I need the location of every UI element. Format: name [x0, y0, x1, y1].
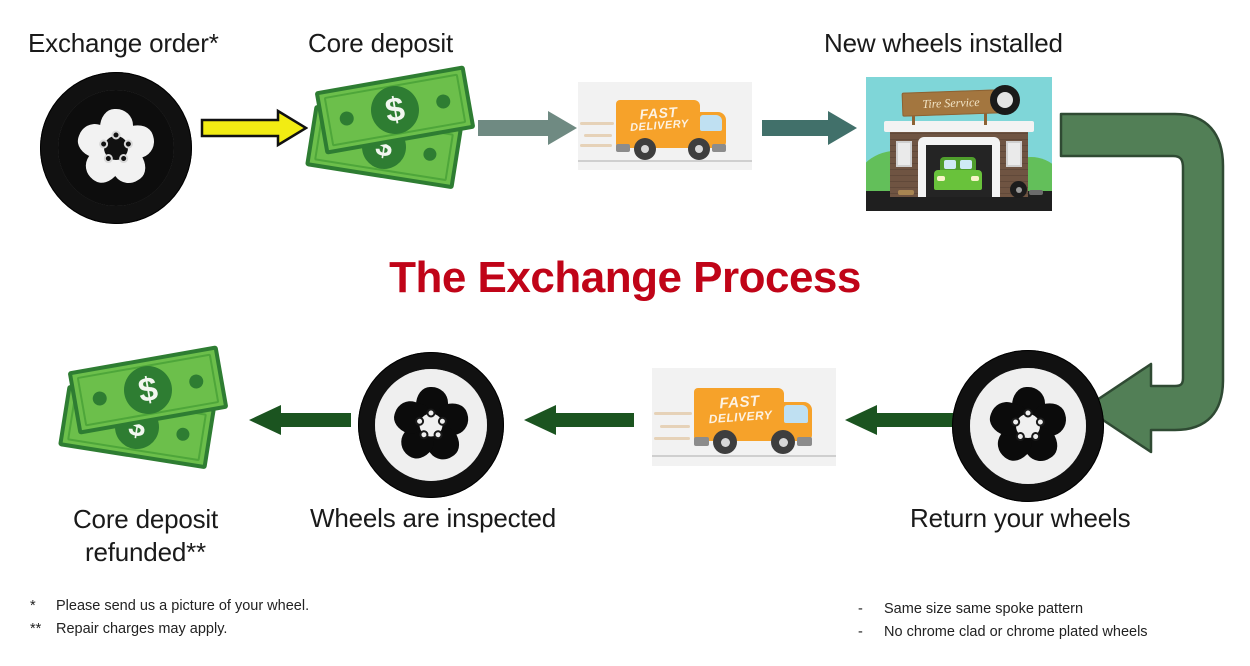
van-bumper — [712, 144, 726, 152]
car-headlight — [937, 176, 945, 181]
shop-tool — [1029, 190, 1043, 195]
dollar-bills-icon-refund: $ $ — [58, 352, 233, 487]
shop-window — [896, 141, 912, 167]
speed-line — [584, 134, 612, 137]
sign-post — [984, 113, 987, 125]
speed-line — [654, 437, 690, 440]
van-road — [578, 160, 752, 162]
requirement-bullet: - — [858, 621, 884, 644]
loose-tire — [1010, 181, 1027, 198]
car-windshield — [944, 160, 956, 169]
arrow-ship-to-inspect — [522, 404, 634, 436]
alloy-wheel-icon-return — [952, 350, 1104, 502]
car-windshield — [960, 160, 972, 169]
arrow-return-to-ship — [843, 404, 953, 436]
requirement-text: Same size same spoke pattern — [884, 598, 1083, 621]
speed-line — [660, 425, 690, 428]
arrow-order-to-deposit — [200, 108, 308, 148]
exchange-process-diagram: Exchange order* Core deposit — [0, 0, 1250, 666]
van-label: FAST DELIVERY — [623, 104, 695, 136]
van-wheel — [713, 430, 737, 454]
step-label-core-deposit-refunded: Core deposit refunded** — [38, 503, 253, 570]
shop-window — [1006, 141, 1022, 167]
shop-sign: Tire Service — [902, 89, 1001, 116]
page-title: The Exchange Process — [0, 253, 1250, 303]
footnote-text: Please send us a picture of your wheel. — [56, 595, 309, 618]
alloy-wheel-icon-inspected — [358, 352, 504, 498]
car-headlight — [971, 176, 979, 181]
shop-sign-text: Tire Service — [922, 95, 980, 112]
wheel-rim — [970, 368, 1086, 484]
van-label: FAST DELIVERY — [701, 392, 779, 426]
van-wheel — [771, 430, 795, 454]
speed-line — [580, 144, 612, 147]
footnotes-right: - Same size same spoke pattern - No chro… — [858, 598, 1148, 645]
lug-nut — [112, 131, 121, 140]
footnotes-left: * Please send us a picture of your wheel… — [30, 595, 309, 642]
van-wheel — [688, 138, 710, 160]
step-label-new-wheels-installed: New wheels installed — [824, 28, 1063, 59]
van-windshield — [700, 115, 722, 131]
footnote-mark: * — [30, 595, 56, 618]
footnote-row: ** Repair charges may apply. — [30, 618, 309, 641]
lug-nut — [1024, 409, 1033, 418]
step-label-core-deposit: Core deposit — [308, 28, 453, 59]
tire-service-shop-icon: Tire Service — [866, 77, 1052, 211]
speed-line — [580, 122, 614, 125]
van-bumper — [694, 437, 709, 446]
shop-roof-cap — [884, 121, 1034, 132]
fast-delivery-van-icon: FAST DELIVERY — [578, 82, 752, 170]
wheel-rim — [375, 369, 487, 481]
requirement-row: - Same size same spoke pattern — [858, 598, 1148, 621]
van-windshield — [784, 405, 808, 423]
step-label-return-your-wheels: Return your wheels — [910, 503, 1130, 534]
footnote-mark: ** — [30, 618, 56, 641]
footnote-row: * Please send us a picture of your wheel… — [30, 595, 309, 618]
wheel-rim — [58, 90, 174, 206]
dollar-bills-icon: $ $ — [305, 72, 480, 207]
footnote-text: Repair charges may apply. — [56, 618, 227, 641]
fast-delivery-van-icon-return: FAST DELIVERY — [652, 368, 836, 466]
arrow-inspect-to-refund — [247, 404, 351, 436]
requirement-row: - No chrome clad or chrome plated wheels — [858, 621, 1148, 644]
requirement-bullet: - — [858, 598, 884, 621]
van-bumper — [797, 437, 812, 446]
speed-line — [654, 412, 692, 415]
alloy-wheel-icon — [40, 72, 192, 224]
step-label-wheels-inspected: Wheels are inspected — [310, 503, 556, 534]
van-road — [652, 455, 836, 457]
arrow-ship-to-shop — [762, 110, 858, 146]
sign-tire-icon — [990, 85, 1020, 115]
step-label-exchange-order: Exchange order* — [28, 28, 219, 59]
van-wheel — [634, 138, 656, 160]
shop-tool — [898, 190, 914, 195]
lug-nut — [427, 409, 436, 418]
van-bumper — [616, 144, 630, 152]
arrow-deposit-to-ship — [478, 110, 578, 146]
requirement-text: No chrome clad or chrome plated wheels — [884, 621, 1148, 644]
